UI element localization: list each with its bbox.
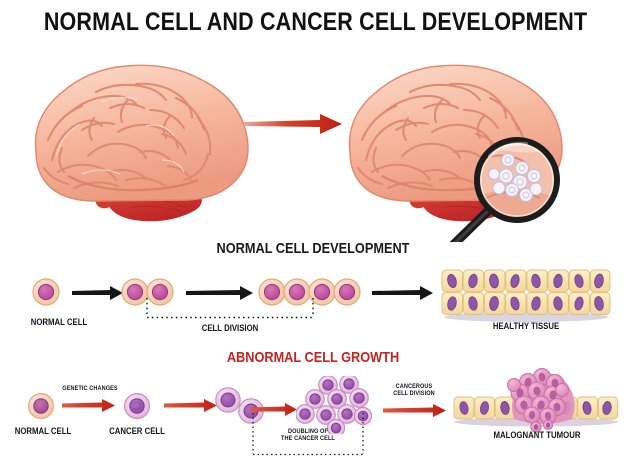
- arrow-normal-1: [72, 286, 124, 300]
- label-healthy-tissue: HEALTHY TISSUE: [477, 322, 575, 332]
- arrow-abnormal-1: [164, 399, 218, 412]
- infographic-canvas: NORMAL CELL AND CANCER CELL DEVELOPMENT: [0, 0, 626, 474]
- label-malignant-tumour: MALOGNANT TUMOUR: [476, 431, 599, 441]
- label-doubling-line2: THE CANCER CELL: [281, 435, 335, 442]
- label-cancerous-line2: CELL DIVISION: [393, 390, 435, 397]
- arrow-genetic-changes: [62, 399, 116, 412]
- arrow-cancerous-division: [383, 404, 447, 417]
- label-doubling-of-cancer-cell: DOUBLING OF THE CANCER CELL: [272, 428, 344, 443]
- label-cancerous-cell-division: CANCEROUS CELL DIVISION: [383, 383, 445, 398]
- label-cancer-cell: CANCER CELL: [102, 427, 173, 437]
- cell-division-bracket: [146, 298, 314, 320]
- malignant-tumour-illustration: [452, 367, 620, 433]
- label-normal-cell-top: NORMAL CELL: [11, 318, 108, 328]
- abnormal-growth-heading: ABNORMAL CELL GROWTH: [47, 349, 579, 366]
- cancer-cell-single: [122, 391, 152, 421]
- arrow-brain-progression: [244, 112, 344, 136]
- label-doubling-line1: DOUBLING OF: [288, 428, 328, 435]
- page-title: NORMAL CELL AND CANCER CELL DEVELOPMENT: [44, 8, 582, 37]
- abnormal-normal-cell: [26, 391, 56, 421]
- healthy-tissue-block: [440, 268, 612, 322]
- label-cancerous-line1: CANCEROUS: [396, 383, 433, 390]
- label-genetic-changes: GENETIC CHANGES: [57, 385, 123, 392]
- brain-with-tumour-illustration: [336, 56, 586, 242]
- healthy-brain-illustration: [22, 56, 254, 236]
- normal-cell-single: [30, 276, 62, 308]
- normal-development-heading: NORMAL CELL DEVELOPMENT: [47, 240, 579, 257]
- label-normal-cell-bottom: NORMAL CELL: [8, 427, 79, 437]
- label-cell-division: CELL DIVISION: [181, 324, 279, 334]
- arrow-normal-3: [372, 286, 434, 300]
